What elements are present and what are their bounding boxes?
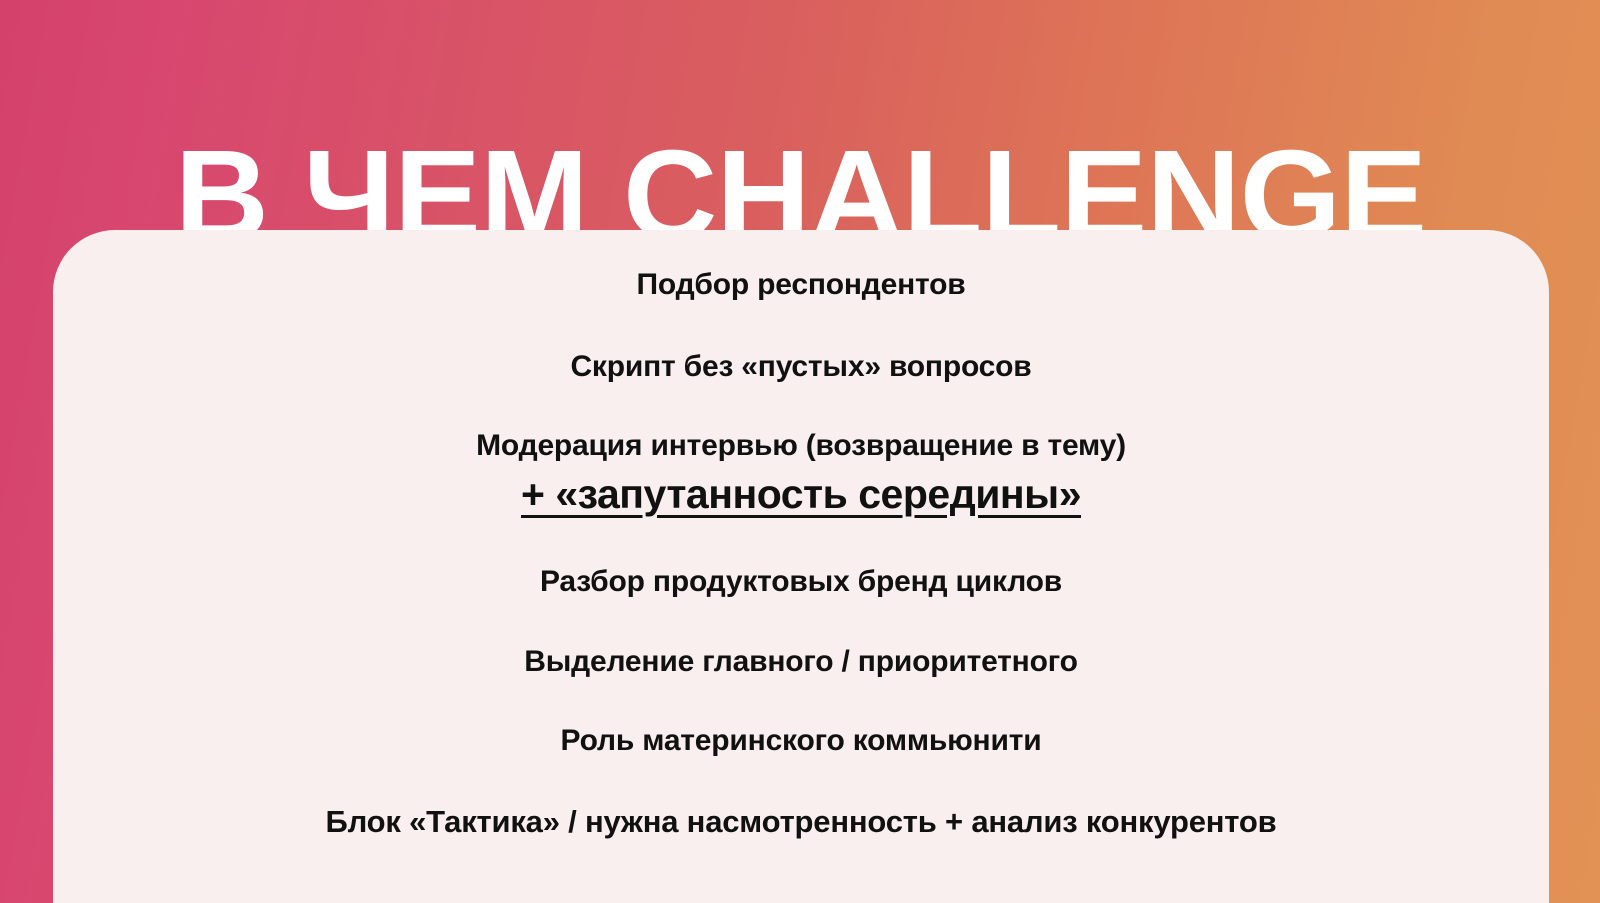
slide-root: В ЧЕМ CHALLENGE Подбор респондентов Скри… [0,0,1600,903]
list-item-interview-moderation: Модерация интервью (возвращение в тему) [476,429,1126,464]
list-item-respondent-selection: Подбор респондентов [636,268,965,303]
list-item-prioritization: Выделение главного / приоритетного [524,645,1077,680]
list-item-maternal-community: Роль материнского коммьюнити [561,724,1042,759]
list-item-script: Скрипт без «пустых» вопросов [570,350,1031,385]
content-card: Подбор респондентов Скрипт без «пустых» … [53,230,1549,903]
list-item-brand-cycles: Разбор продуктовых бренд циклов [540,565,1062,600]
list-item-tactics-block: Блок «Тактика» / нужна насмотренность + … [326,804,1277,840]
content-list: Подбор респондентов Скрипт без «пустых» … [53,230,1549,903]
list-item-middle-confusion-emphasis: + «запутанность середины» [521,472,1081,518]
